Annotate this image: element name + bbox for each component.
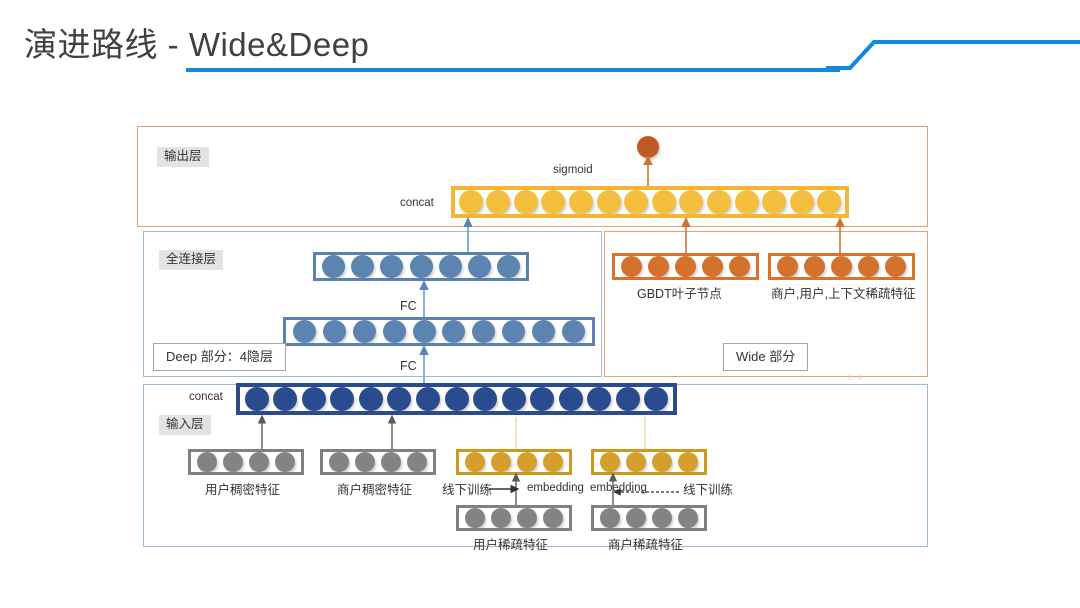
neuron-node	[858, 256, 879, 277]
neuron-node	[442, 320, 465, 343]
neuron-node	[497, 255, 520, 278]
layer-tag-input: 输入层	[159, 415, 211, 435]
neuron-node	[543, 452, 563, 472]
neuron-node	[197, 452, 217, 472]
wide-sparse-bar	[768, 253, 915, 280]
neuron-node	[459, 190, 483, 214]
neuron-node	[502, 320, 525, 343]
input-merchant-dense-label: 商户稠密特征	[337, 484, 412, 497]
neuron-node	[626, 508, 646, 528]
neuron-node	[707, 190, 731, 214]
input-merchant-dense-bar	[320, 449, 436, 475]
neuron-node	[621, 256, 642, 277]
layer-tag-fullyconnected: 全连接层	[159, 250, 223, 270]
neuron-node	[445, 387, 469, 411]
neuron-node	[302, 387, 326, 411]
neuron-node	[652, 190, 676, 214]
neuron-node	[626, 452, 646, 472]
neuron-node	[702, 256, 723, 277]
wide-sparse-label: 商户,用户,上下文稀疏特征	[771, 288, 915, 301]
neuron-node	[735, 190, 759, 214]
neuron-node	[322, 255, 345, 278]
deep-part-box: Deep 部分：4隐层	[153, 343, 286, 371]
neuron-node	[381, 452, 401, 472]
neuron-node	[329, 452, 349, 472]
offline-train-label-left: 线下训练	[442, 484, 492, 497]
neuron-node	[491, 452, 511, 472]
wide-gbdt-bar	[612, 253, 759, 280]
neuron-node	[597, 190, 621, 214]
neuron-node	[330, 387, 354, 411]
neuron-node	[616, 387, 640, 411]
input-user-embedding-bar	[456, 449, 572, 475]
sigmoid-node	[637, 136, 659, 158]
neuron-node	[439, 255, 462, 278]
neuron-node	[762, 190, 786, 214]
neuron-node	[486, 190, 510, 214]
neuron-node	[678, 508, 698, 528]
neuron-node	[678, 452, 698, 472]
architecture-diagram: 输出层 sigmoid concat 全连接层 FC FC Deep 部分：4隐…	[0, 0, 1080, 608]
neuron-node	[245, 387, 269, 411]
sigmoid-label: sigmoid	[553, 165, 593, 177]
neuron-node	[777, 256, 798, 277]
input-merchant-sparse-bar	[591, 505, 707, 531]
neuron-node	[275, 452, 295, 472]
neuron-node	[293, 320, 316, 343]
input-user-dense-label: 用户稠密特征	[205, 484, 280, 497]
neuron-node	[624, 190, 648, 214]
neuron-node	[359, 387, 383, 411]
input-user-sparse-bar	[456, 505, 572, 531]
neuron-node	[472, 320, 495, 343]
neuron-node	[514, 190, 538, 214]
input-merchant-embedding-bar	[591, 449, 707, 475]
input-merchant-sparse-label: 商户稀疏特征	[608, 539, 683, 552]
wide-part-box: Wide 部分	[723, 343, 808, 371]
watermark: a a	[848, 372, 864, 382]
neuron-node	[543, 508, 563, 528]
neuron-node	[817, 190, 841, 214]
neuron-node	[652, 452, 672, 472]
neuron-node	[804, 256, 825, 277]
neuron-node	[600, 452, 620, 472]
neuron-node	[652, 508, 672, 528]
neuron-node	[355, 452, 375, 472]
neuron-node	[413, 320, 436, 343]
output-concat-label: concat	[400, 198, 434, 210]
neuron-node	[353, 320, 376, 343]
input-concat-bar	[236, 383, 677, 415]
neuron-node	[600, 508, 620, 528]
deep-hidden-lower-bar	[283, 317, 595, 346]
neuron-node	[541, 190, 565, 214]
neuron-node	[465, 508, 485, 528]
offline-train-label-right: 线下训练	[683, 484, 733, 497]
neuron-node	[407, 452, 427, 472]
neuron-node	[790, 190, 814, 214]
neuron-node	[323, 320, 346, 343]
neuron-node	[351, 255, 374, 278]
fc-label-upper: FC	[400, 300, 417, 313]
neuron-node	[532, 320, 555, 343]
neuron-node	[380, 255, 403, 278]
input-user-embedding-label: embedding	[527, 483, 584, 495]
neuron-node	[502, 387, 526, 411]
neuron-node	[679, 190, 703, 214]
input-user-dense-bar	[188, 449, 304, 475]
input-concat-label: concat	[189, 392, 223, 404]
neuron-node	[569, 190, 593, 214]
neuron-node	[587, 387, 611, 411]
deep-hidden-upper-bar	[313, 252, 529, 281]
neuron-node	[273, 387, 297, 411]
neuron-node	[885, 256, 906, 277]
neuron-node	[473, 387, 497, 411]
neuron-node	[223, 452, 243, 472]
neuron-node	[559, 387, 583, 411]
neuron-node	[562, 320, 585, 343]
neuron-node	[648, 256, 669, 277]
layer-tag-output: 输出层	[157, 147, 209, 167]
fc-label-lower: FC	[400, 360, 417, 373]
output-concat-bar	[451, 186, 849, 218]
neuron-node	[491, 508, 511, 528]
neuron-node	[729, 256, 750, 277]
neuron-node	[387, 387, 411, 411]
neuron-node	[530, 387, 554, 411]
neuron-node	[465, 452, 485, 472]
neuron-node	[517, 452, 537, 472]
wide-gbdt-label: GBDT叶子节点	[637, 288, 722, 301]
neuron-node	[644, 387, 668, 411]
input-merchant-embedding-label: embedding	[590, 483, 647, 495]
neuron-node	[831, 256, 852, 277]
neuron-node	[383, 320, 406, 343]
neuron-node	[410, 255, 433, 278]
neuron-node	[249, 452, 269, 472]
input-user-sparse-label: 用户稀疏特征	[473, 539, 548, 552]
neuron-node	[468, 255, 491, 278]
neuron-node	[517, 508, 537, 528]
neuron-node	[675, 256, 696, 277]
neuron-node	[416, 387, 440, 411]
